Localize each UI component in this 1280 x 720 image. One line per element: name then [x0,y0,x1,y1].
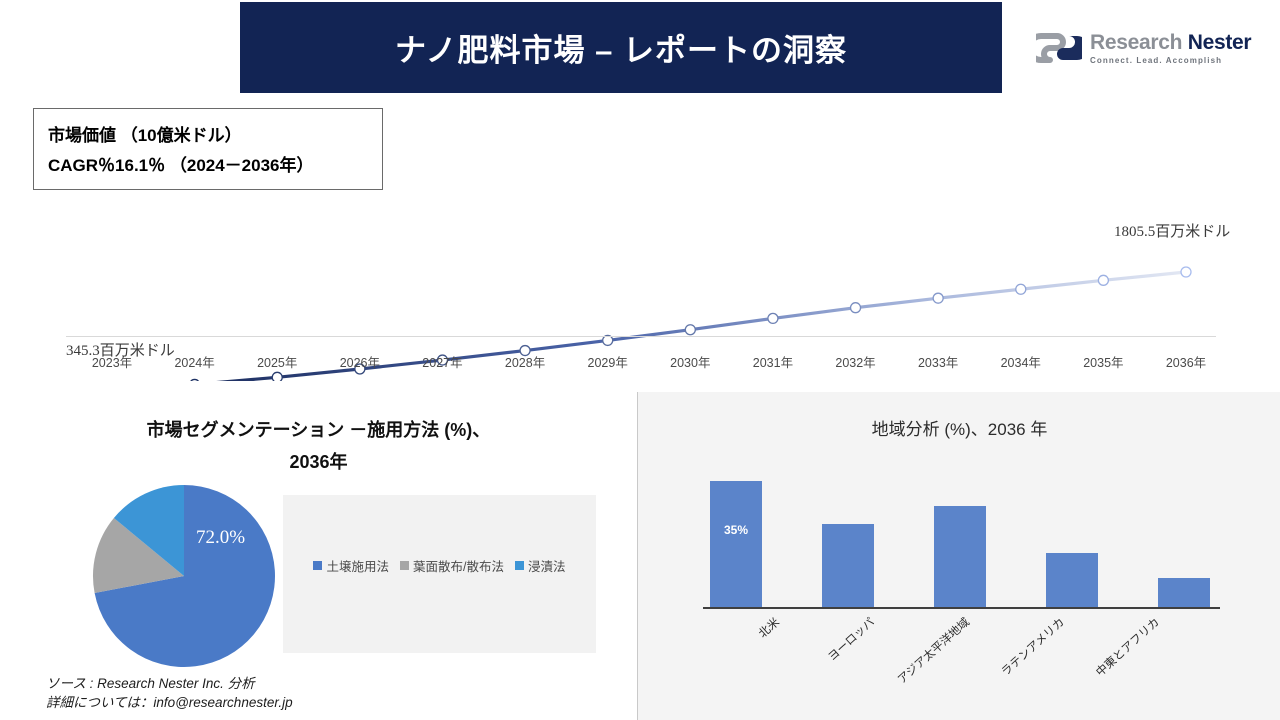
bar-column [822,470,874,607]
pie-chart-title: 市場セグメンテーション －施用方法 (%)、 2036年 [0,414,637,478]
bar[interactable] [1046,553,1098,607]
year-axis-tick: 2030年 [670,352,710,371]
header-band: ナノ肥料市場 – レポートの洞察 [240,2,1002,93]
line-chart-marker [1181,267,1191,277]
regional-analysis-section: 地域分析 (%)、2036 年 35% 北米ヨーロッパアジア太平洋地域ラテンアメ… [637,392,1280,720]
year-axis-tick: 2033年 [918,352,958,371]
market-value-line-chart: 345.3百万米ドル 1805.5百万米ドル [0,96,1280,381]
pie-chart [92,484,276,668]
research-nester-logo: Research Nester Connect. Lead. Accomplis… [1036,22,1256,74]
bar-category-label: ヨーロッパ [824,614,877,664]
bar-value-label: 35% [710,523,762,537]
bar-chart-baseline [703,607,1220,609]
pie-legend-item[interactable]: 葉面散布/散布法 [400,556,504,575]
year-axis-tick: 2031年 [753,352,793,371]
year-axis-tick: 2026年 [340,352,380,371]
year-axis-tick: 2024年 [174,352,214,371]
pie-chart-title-line2: 2036年 [289,452,347,472]
logo-text: Research Nester Connect. Lead. Accomplis… [1090,32,1251,65]
footer-source-line: ソース : Research Nester Inc. 分析 [46,674,293,693]
pie-legend-label: 葉面散布/散布法 [413,556,504,575]
logo-wordmark: Research Nester [1090,32,1251,53]
legend-swatch-icon [313,561,322,570]
bar-category-label: ラテンアメリカ [998,614,1068,679]
year-axis-tick: 2035年 [1083,352,1123,371]
logo-word-nester: Nester [1188,31,1252,54]
bar-category-label: アジア太平洋地域 [894,614,973,687]
line-chart-marker [685,325,695,335]
pie-legend-label: 土壌施用法 [326,556,389,575]
page-title: ナノ肥料市場 – レポートの洞察 [395,25,847,70]
bar-column [1046,470,1098,607]
year-axis-tick: 2028年 [505,352,545,371]
year-axis-tick: 2034年 [1001,352,1041,371]
logo-tagline: Connect. Lead. Accomplish [1090,57,1251,65]
chain-link-logo-icon [1036,30,1082,66]
bar-column [934,470,986,607]
line-chart-end-label: 1805.5百万米ドル [1114,220,1230,241]
line-chart-marker [768,313,778,323]
line-chart-year-axis: 2023年2024年2025年2026年2027年2028年2029年2030年… [0,352,1280,374]
bar-chart-title: 地域分析 (%)、2036 年 [638,415,1280,440]
legend-swatch-icon [515,561,524,570]
line-chart-marker [1016,284,1026,294]
year-axis-tick: 2025年 [257,352,297,371]
bar-category-label: 中東とアフリカ [1092,614,1163,680]
bar-column [1158,470,1210,607]
line-chart-marker [190,379,200,381]
line-chart-marker [933,293,943,303]
market-segmentation-section: 市場セグメンテーション －施用方法 (%)、 2036年 72.0% 土壌施用法… [0,392,637,720]
pie-legend-item[interactable]: 土壌施用法 [313,556,389,575]
line-chart-marker [851,303,861,313]
bar-category-label: 北米 [755,614,783,641]
source-footer: ソース : Research Nester Inc. 分析 詳細については：in… [46,674,293,712]
pie-legend-item[interactable]: 浸漬法 [515,556,566,575]
line-chart-marker [1098,275,1108,285]
bar-column: 35% [710,470,762,607]
pie-legend-label: 浸漬法 [528,556,566,575]
year-axis-tick: 2029年 [588,352,628,371]
pie-data-label: 72.0% [196,527,245,549]
logo-word-research: Research [1090,31,1182,54]
line-chart-axis-rule [66,336,1216,337]
year-axis-tick: 2032年 [835,352,875,371]
bar-chart-bars: 35% [710,470,1210,607]
year-axis-tick: 2027年 [422,352,462,371]
year-axis-tick: 2023年 [92,352,132,371]
bar[interactable] [1158,578,1210,607]
footer-contact-line: 詳細については：info@researchnester.jp [46,693,293,712]
legend-swatch-icon [400,561,409,570]
pie-chart-title-line1: 市場セグメンテーション －施用方法 (%)、 [147,420,491,440]
pie-chart-legend: 土壌施用法葉面散布/散布法浸漬法 [283,556,596,575]
year-axis-tick: 2036年 [1166,352,1206,371]
bar[interactable] [934,506,986,607]
bar[interactable] [710,481,762,607]
bar[interactable] [822,524,874,607]
